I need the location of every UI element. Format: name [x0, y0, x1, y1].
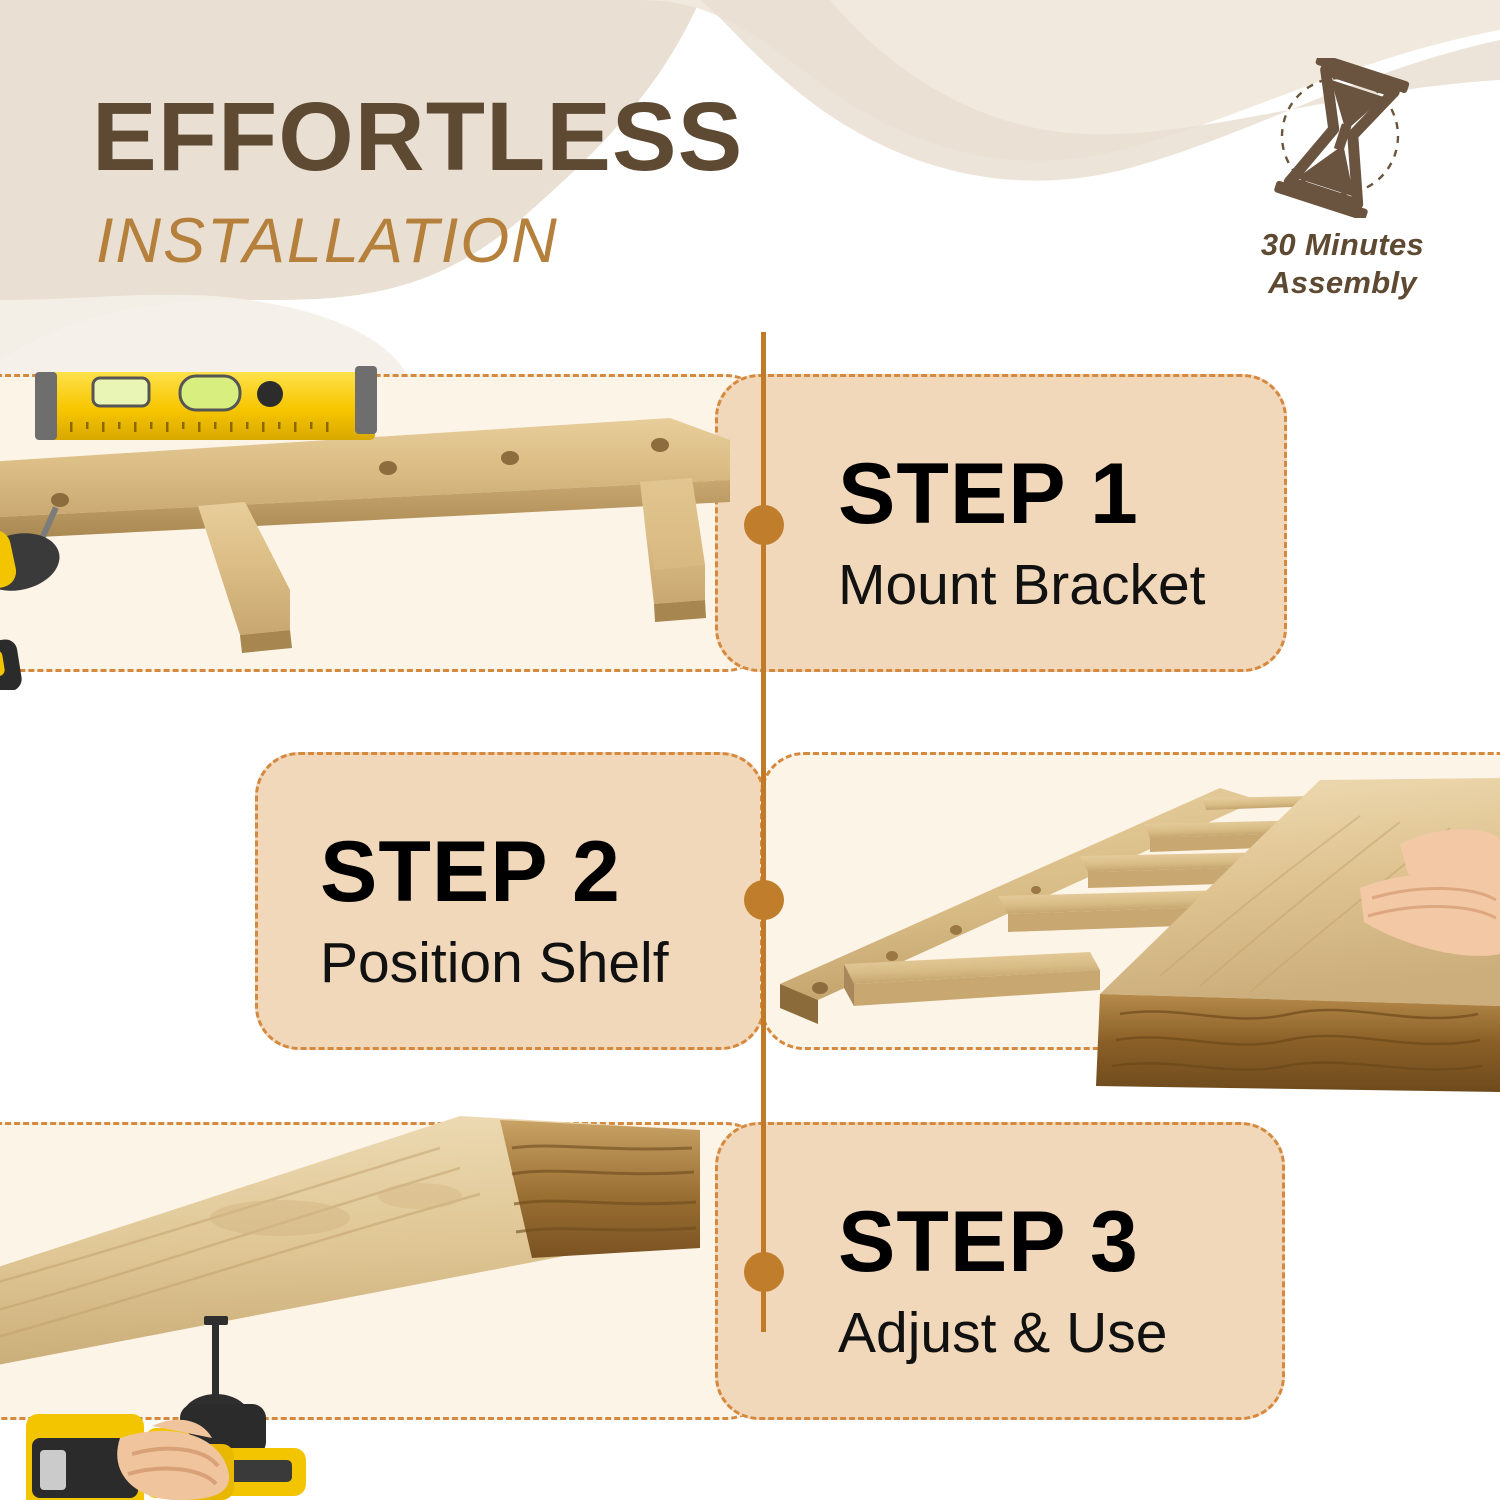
step-2-number: STEP 2	[320, 829, 669, 915]
assembly-time-line2: Assembly	[1215, 264, 1470, 302]
assembly-time-badge: 30 Minutes Assembly	[1215, 58, 1470, 308]
step-3-number: STEP 3	[838, 1199, 1167, 1285]
step-3-photo-card	[0, 1122, 770, 1420]
step-3-description: Adjust & Use	[838, 1301, 1167, 1367]
timeline-dot-step-3	[744, 1252, 784, 1292]
assembly-time-label: 30 Minutes Assembly	[1215, 226, 1470, 302]
step-2-text-card: STEP 2 Position Shelf	[255, 752, 765, 1050]
step-1-photo-card	[0, 374, 770, 672]
step-1-number: STEP 1	[838, 451, 1206, 537]
timeline-dot-step-2	[744, 880, 784, 920]
header: EFFORTLESS INSTALLATION 30 Minutes Assem…	[0, 0, 1500, 330]
hourglass-icon	[1260, 58, 1425, 218]
step-1-description: Mount Bracket	[838, 553, 1206, 619]
step-2-photo-card	[760, 752, 1500, 1050]
step-3-text-card: STEP 3 Adjust & Use	[715, 1122, 1285, 1420]
step-2-description: Position Shelf	[320, 931, 669, 997]
step-1-text-card: STEP 1 Mount Bracket	[715, 374, 1287, 672]
page-subtitle: INSTALLATION	[96, 210, 559, 273]
timeline-connector	[761, 332, 766, 1332]
page-title: EFFORTLESS	[92, 88, 743, 185]
timeline-dot-step-1	[744, 505, 784, 545]
assembly-time-line1: 30 Minutes	[1215, 226, 1470, 264]
